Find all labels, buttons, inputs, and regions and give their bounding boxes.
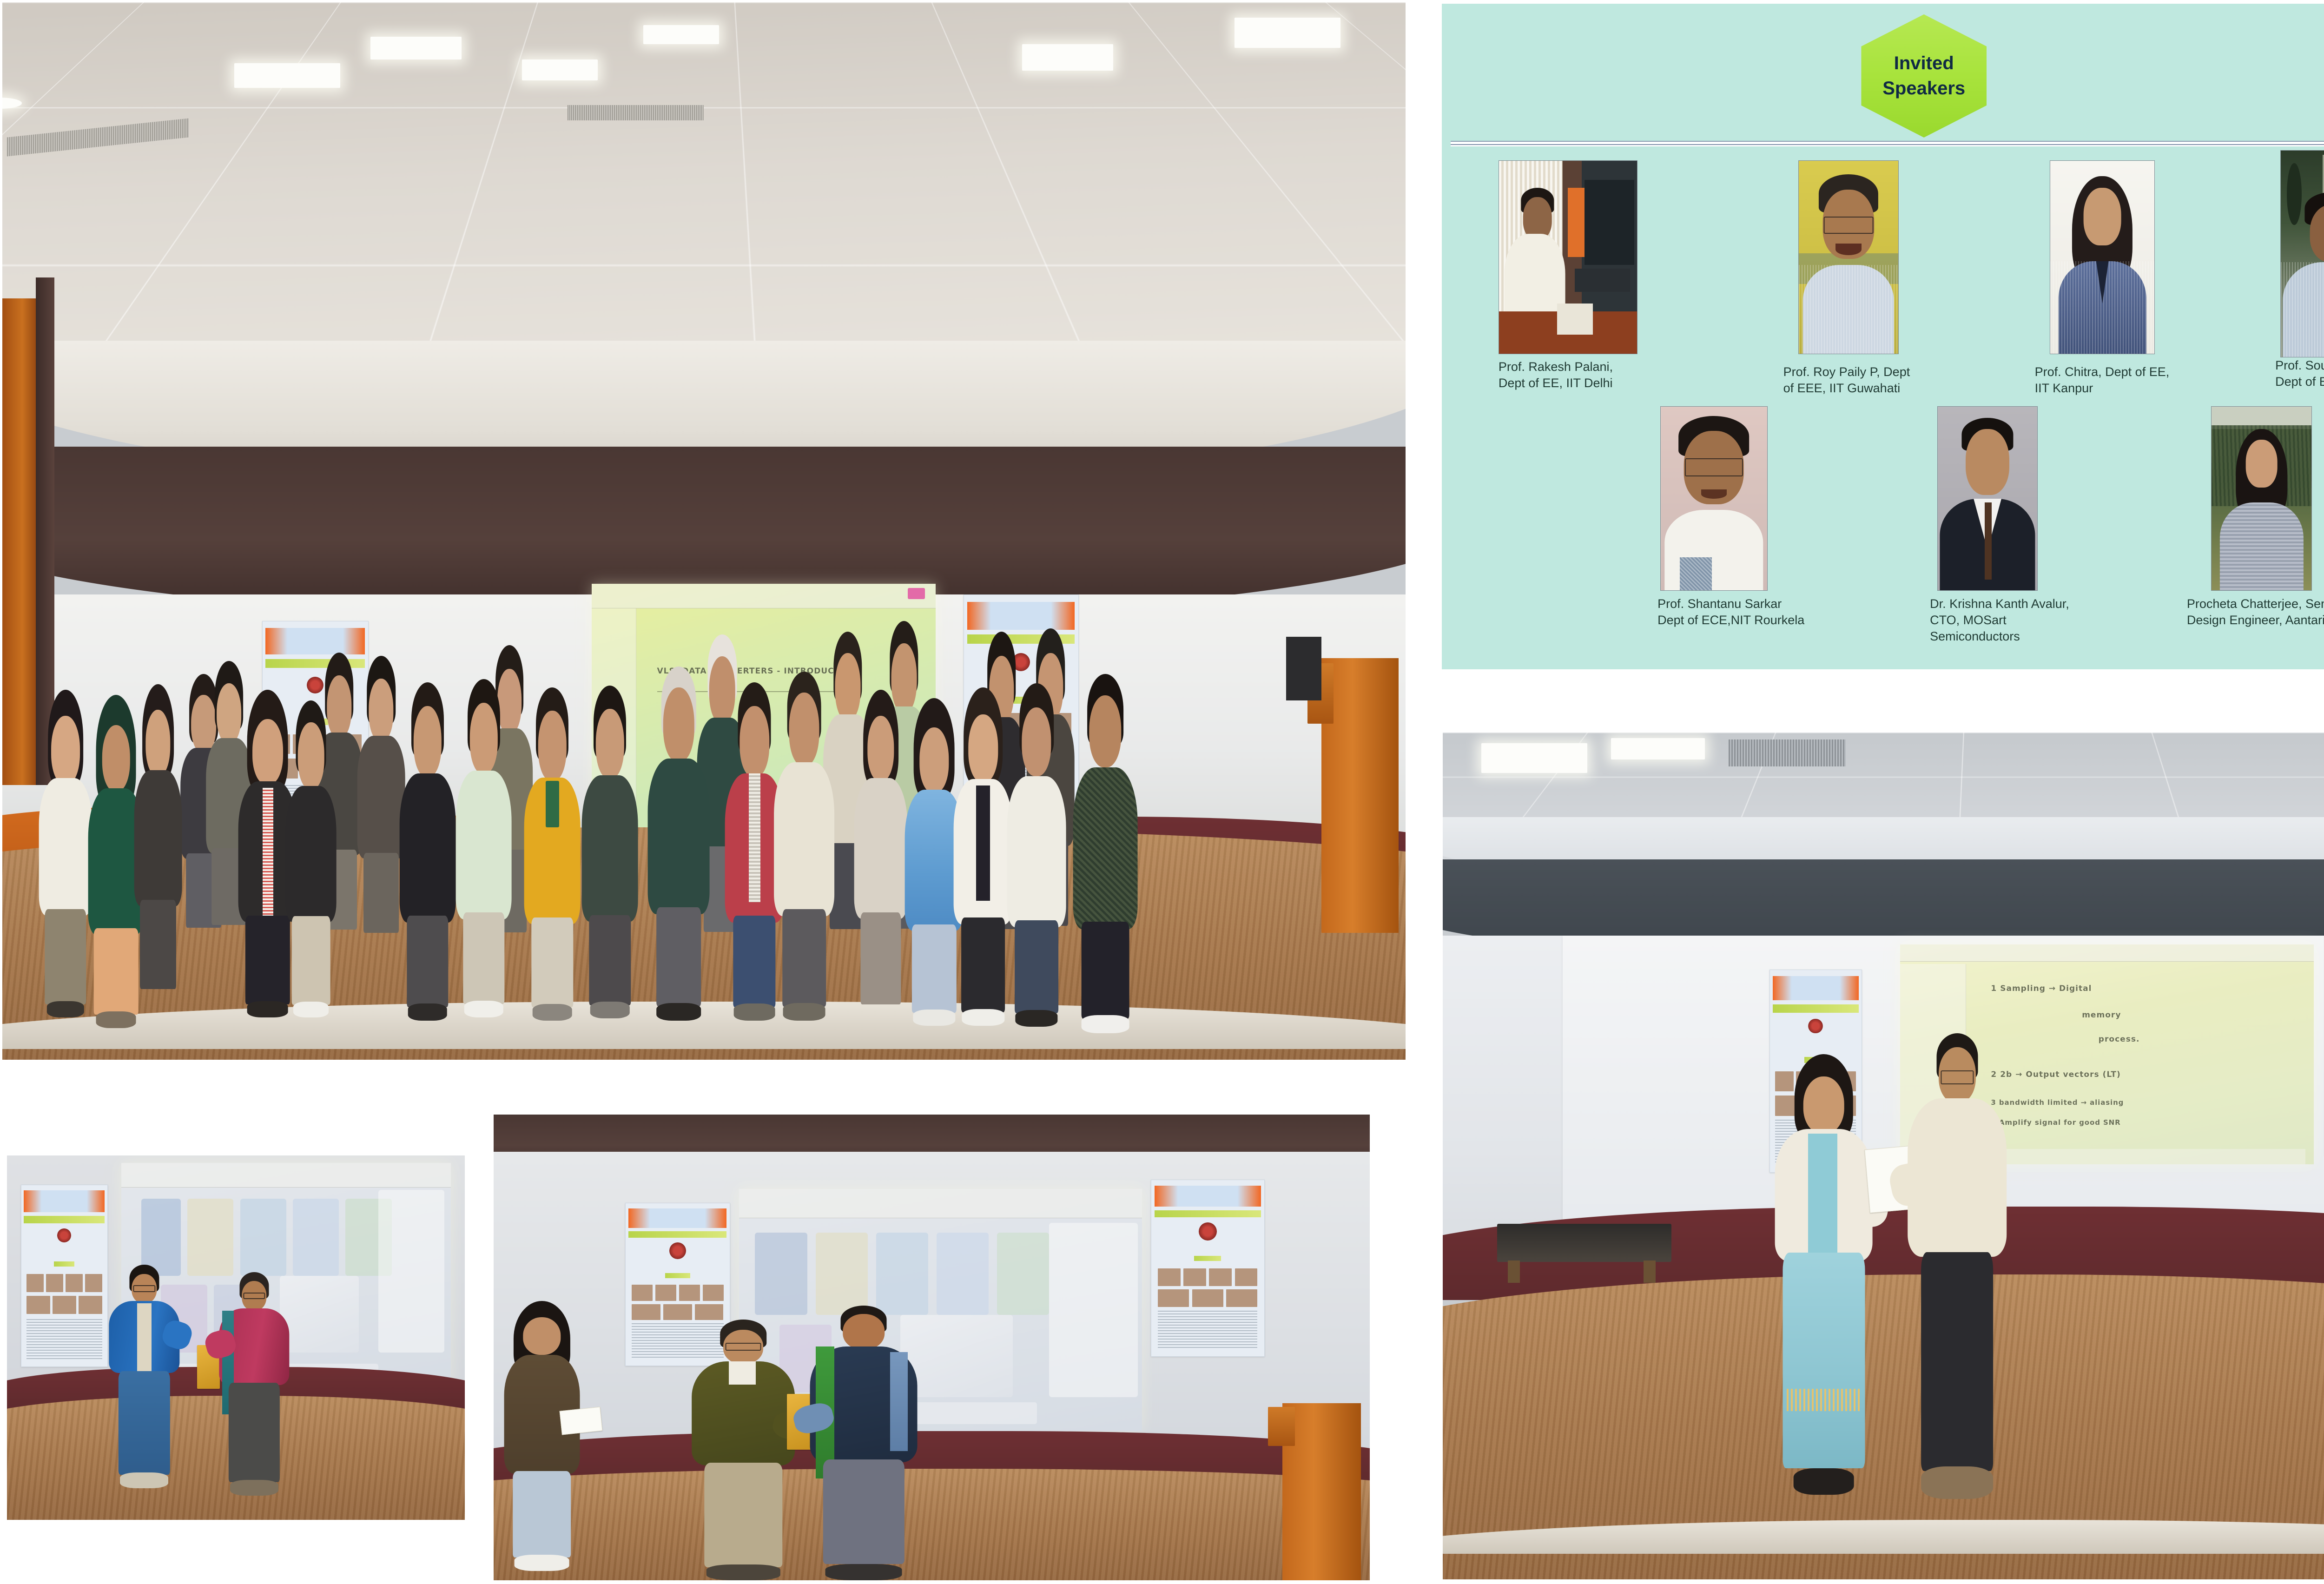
speaker-card: Dr. Krishna Kanth Avalur, CTO, MOSart Se… [1930, 406, 2180, 646]
invited-speakers-panel: Invited Speakers Pr [1442, 4, 2324, 669]
badge-line-2: Speakers [1882, 76, 1965, 101]
person-figure [774, 672, 834, 1021]
speaker-card: Prof. Chitra, Dept of EE, IIT Kanpur [2025, 160, 2275, 400]
speaker-photo [2050, 160, 2155, 355]
person-figure [218, 1272, 291, 1498]
speaker-card: Prof. Roy Paily P, Dept of EEE, IIT Guwa… [1763, 160, 2014, 400]
person-figure [582, 686, 638, 1019]
person-figure [524, 687, 581, 1021]
board-line-6: 4 Amplify signal for good SNR [1991, 1118, 2120, 1127]
speaker-caption: Prof. Shantanu Sarkar Dept of ECE,NIT Ro… [1657, 596, 1963, 628]
person-figure [1073, 674, 1137, 1034]
speaker-photo [2280, 150, 2324, 357]
memento-olive-photo [494, 1115, 1370, 1580]
speaker-photo [1499, 160, 1637, 355]
person-figure [809, 1306, 919, 1580]
person-figure [648, 667, 710, 1021]
person-figure [691, 1320, 796, 1580]
person-figure [134, 684, 182, 1002]
speaker-caption: Prof. Sougata kumar Kar, Dept of ECE, NI… [2275, 357, 2324, 390]
board-line-1: 1 Sampling → Digital [1991, 984, 2092, 993]
person-figure [954, 687, 1013, 1026]
speaker-caption: Procheta Chatterjee, Senior Analog Desig… [2187, 596, 2324, 628]
board-line-3: process. [2099, 1035, 2140, 1044]
workshop-poster [21, 1185, 108, 1367]
speaker-caption: Prof. Rakesh Palani, Dept of EE, IIT Del… [1499, 359, 1779, 391]
person-figure [39, 690, 92, 1017]
person-figure [399, 682, 456, 1021]
collage-page: VLSI DATA CONVERTERS - INTRODUCTION [0, 0, 2324, 1584]
speaker-photo [1937, 406, 2038, 591]
speaker-photo [2211, 406, 2312, 591]
side-table [1497, 1224, 1671, 1262]
speaker-card: Prof. Shantanu Sarkar Dept of ECE,NIT Ro… [1657, 406, 1908, 646]
board-line-5: 3 bandwidth limited → aliasing [1991, 1098, 2124, 1107]
speaker-card: Prof. Rakesh Palani, Dept of EE, IIT Del… [1499, 160, 1749, 400]
person-figure [1905, 1033, 2008, 1499]
speaker-photo [1660, 406, 1768, 591]
person-figure [854, 690, 908, 1017]
speaker-caption: Prof. Chitra, Dept of EE, IIT Kanpur [2035, 364, 2316, 396]
board-line-2: memory [2082, 1010, 2121, 1020]
speaker-caption: Prof. Roy Paily P, Dept of EEE, IIT Guwa… [1783, 364, 2064, 396]
group-photo: VLSI DATA CONVERTERS - INTRODUCTION [2, 2, 1406, 1060]
header-rule [1451, 141, 2324, 146]
memento-blue-photo [7, 1155, 465, 1520]
speaker-card: Prof. Sougata kumar Kar, Dept of ECE, NI… [2275, 150, 2324, 403]
speaker-photo [1798, 160, 1899, 355]
person-figure [108, 1265, 181, 1491]
board-line-4: 2 2b → Output vectors (LT) [1991, 1070, 2120, 1079]
person-figure [1775, 1054, 1873, 1494]
speaker-caption: Dr. Krishna Kanth Avalur, CTO, MOSart Se… [1930, 596, 2225, 645]
person-figure [502, 1301, 581, 1571]
workshop-poster-right [1151, 1180, 1265, 1357]
certificate-photo: 1 Sampling → Digital memory process. 2 2… [1443, 733, 2324, 1579]
invited-speakers-badge: Invited Speakers [1861, 14, 1987, 138]
person-figure [286, 700, 337, 1018]
speaker-card: Procheta Chatterjee, Senior Analog Desig… [2199, 406, 2324, 646]
person-figure [1007, 683, 1066, 1027]
badge-line-1: Invited [1894, 51, 1954, 76]
person-figure [357, 656, 405, 941]
person-figure [456, 679, 512, 1017]
